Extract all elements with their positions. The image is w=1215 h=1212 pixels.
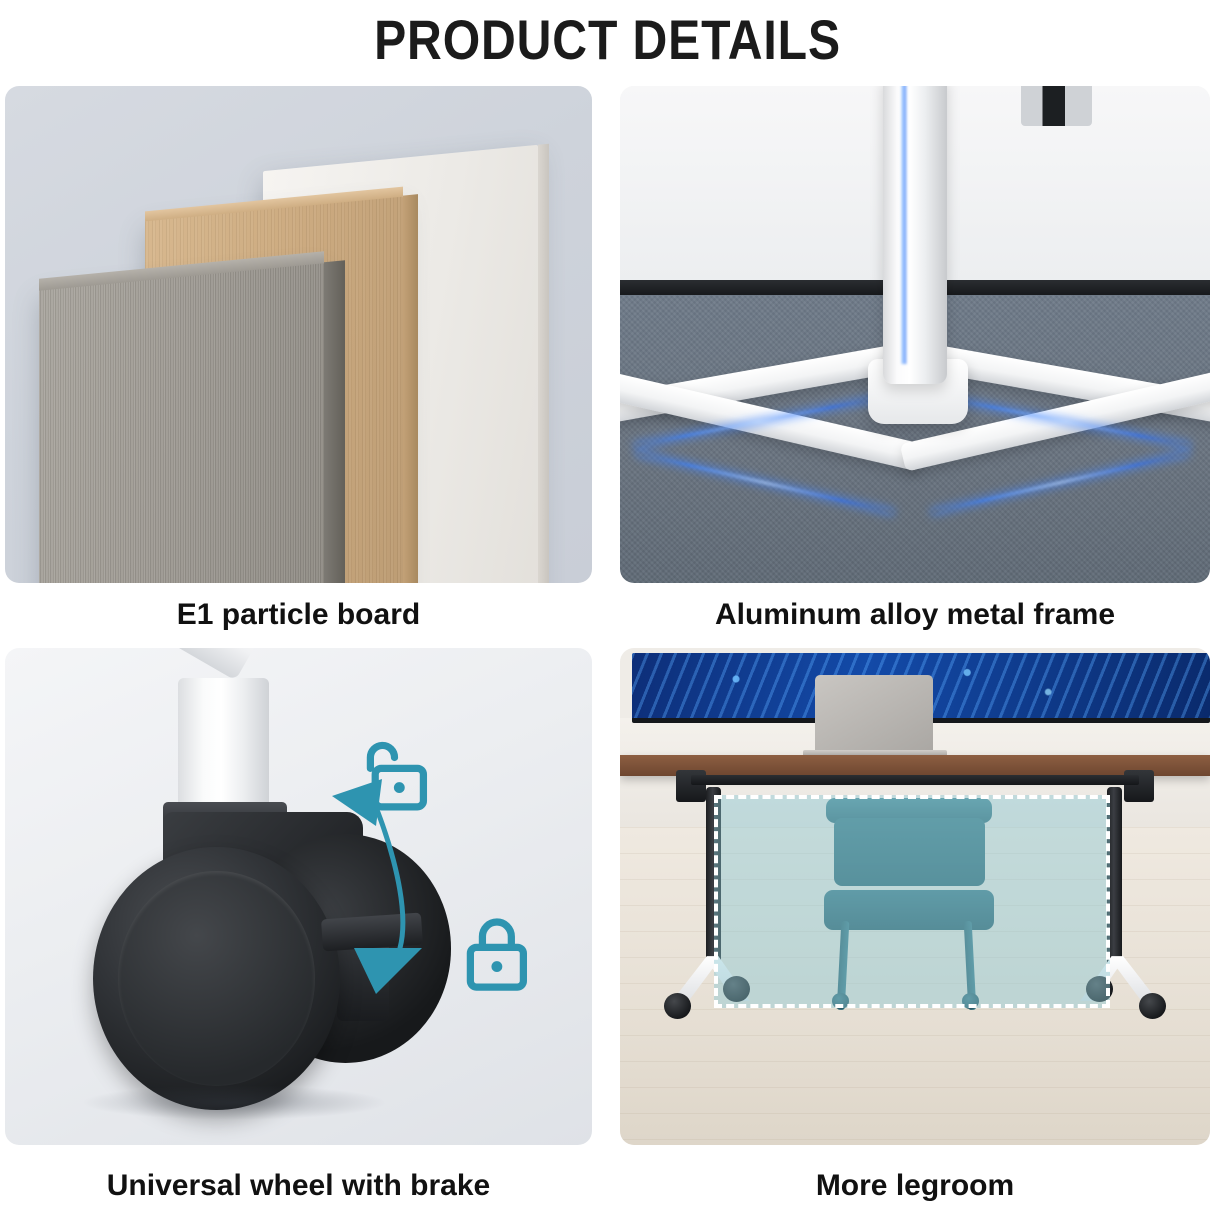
lock-icon [457,916,539,996]
caption-more-legroom: More legroom [620,1160,1210,1212]
board-gray [39,262,324,583]
panel-universal-wheel: Universal wheel with brake [5,648,592,1205]
blue-glow-column [901,86,907,364]
panel-aluminum-alloy-frame: Aluminum alloy metal frame [620,86,1210,641]
caption-universal-wheel: Universal wheel with brake [5,1160,592,1212]
panel-image-caster-wheel [5,648,592,1145]
legroom-highlight-zone [714,795,1109,1009]
frame-bracket [1021,86,1092,126]
lock-toggle-arrow-icon [5,648,592,1145]
panel-more-legroom: More legroom [620,648,1210,1205]
caption-e1-particle-board: E1 particle board [5,589,592,641]
frame-center-column [883,86,948,384]
page-title: PRODUCT DETAILS [85,0,1130,78]
panel-image-legroom [620,648,1210,1145]
desk-modesty-rail [691,775,1139,785]
desk-tabletop [620,755,1210,776]
board-oak-edge [403,194,418,583]
unlock-icon [351,737,433,817]
board-gray-edge [324,260,345,583]
panel-e1-particle-board: E1 particle board [5,86,592,641]
caption-aluminum-alloy-frame: Aluminum alloy metal frame [620,589,1210,641]
panel-image-metal-frame [620,86,1210,583]
product-detail-grid: E1 particle board Aluminum alloy metal f… [0,86,1215,1205]
panel-image-particle-board [5,86,592,583]
board-white-edge [538,144,549,583]
laptop-screen [815,675,933,757]
